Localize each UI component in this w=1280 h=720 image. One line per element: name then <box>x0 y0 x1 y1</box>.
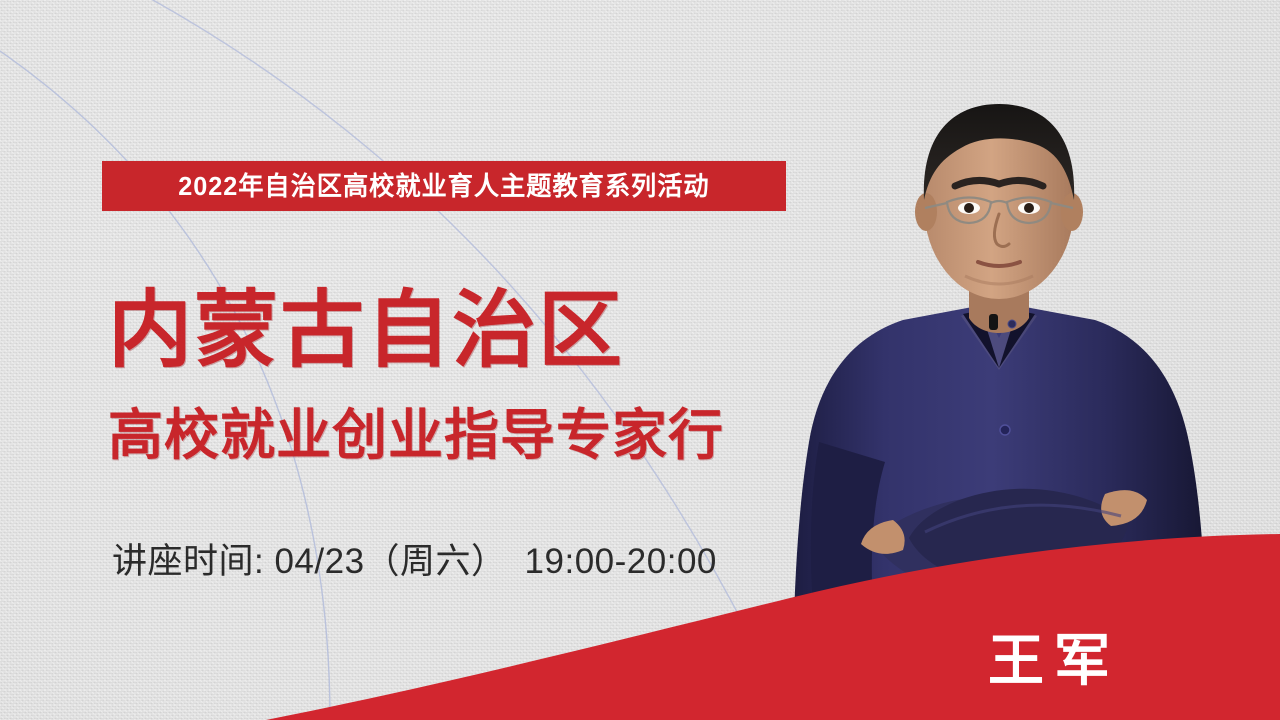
page-subtitle: 高校就业创业指导专家行 <box>108 408 724 463</box>
event-series-banner-label: 2022年自治区高校就业育人主题教育系列活动 <box>178 173 709 199</box>
schedule-time-label: 19:00-20:00 <box>525 542 717 581</box>
page-title: 内蒙古自治区 <box>108 288 624 372</box>
event-series-banner: 2022年自治区高校就业育人主题教育系列活动 <box>102 161 786 211</box>
event-poster: 2022年自治区高校就业育人主题教育系列活动 <box>0 0 1280 720</box>
speaker-portrait <box>775 70 1225 650</box>
schedule-date-label: 讲座时间: 04/23（周六） <box>112 542 507 581</box>
schedule-line: 讲座时间: 04/23（周六）19:00-20:00 <box>112 541 717 583</box>
speaker-name-label: 王军 <box>988 633 1120 689</box>
